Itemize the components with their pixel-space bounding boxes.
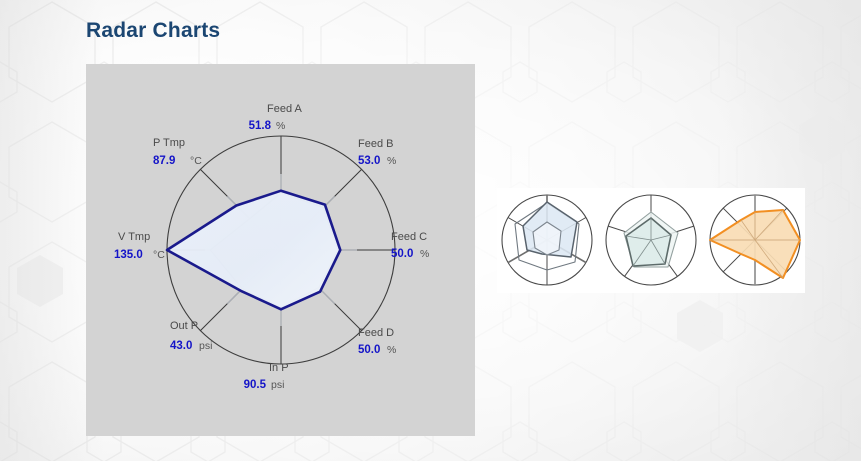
axis-label-feed-b: Feed B 53.0 % — [358, 138, 396, 167]
svg-text:87.9: 87.9 — [153, 155, 175, 167]
thumb-radar-chart-2[interactable] — [601, 188, 701, 293]
svg-text:%: % — [387, 344, 396, 356]
axis-label-in-p: In P 90.5 psi — [244, 362, 289, 391]
thumb-radar-chart-1[interactable] — [497, 188, 597, 293]
svg-text:%: % — [420, 248, 429, 260]
main-chart-panel: Feed A 51.8 % Feed B 53.0 % Feed C 50.0 … — [86, 64, 475, 436]
svg-text:psi: psi — [271, 379, 284, 391]
svg-text:V Tmp: V Tmp — [118, 231, 150, 243]
svg-text:%: % — [276, 120, 285, 132]
svg-text:53.0: 53.0 — [358, 155, 380, 167]
svg-text:Feed C: Feed C — [391, 231, 427, 243]
svg-text:Feed D: Feed D — [358, 327, 394, 339]
page-title: Radar Charts — [86, 19, 220, 43]
svg-text:Feed B: Feed B — [358, 138, 393, 150]
svg-text:51.8: 51.8 — [249, 120, 272, 132]
svg-text:P Tmp: P Tmp — [153, 137, 185, 149]
svg-text:50.0: 50.0 — [358, 344, 380, 356]
axis-label-p-tmp: P Tmp 87.9 °C — [153, 137, 202, 167]
axis-label-feed-c: Feed C 50.0 % — [391, 231, 429, 260]
axis-label-feed-a: Feed A 51.8 % — [249, 103, 303, 132]
svg-text:Feed A: Feed A — [267, 103, 303, 115]
axis-label-v-tmp: V Tmp 135.0 °C — [114, 231, 165, 261]
axis-label-feed-d: Feed D 50.0 % — [358, 327, 396, 356]
svg-text:135.0: 135.0 — [114, 249, 143, 261]
svg-text:psi: psi — [199, 340, 212, 352]
svg-text:In P: In P — [269, 362, 289, 374]
thumb-radar-chart-3[interactable] — [705, 188, 805, 293]
svg-text:%: % — [387, 155, 396, 167]
svg-text:°C: °C — [153, 249, 165, 261]
svg-text:°C: °C — [190, 155, 202, 167]
svg-text:50.0: 50.0 — [391, 248, 413, 260]
svg-text:Out P: Out P — [170, 320, 198, 332]
svg-text:43.0: 43.0 — [170, 340, 192, 352]
main-radar-chart[interactable]: Feed A 51.8 % Feed B 53.0 % Feed C 50.0 … — [86, 64, 475, 436]
radar-value-polygon — [167, 191, 340, 310]
svg-text:90.5: 90.5 — [244, 379, 267, 391]
thumbnail-chart-strip — [497, 188, 805, 293]
